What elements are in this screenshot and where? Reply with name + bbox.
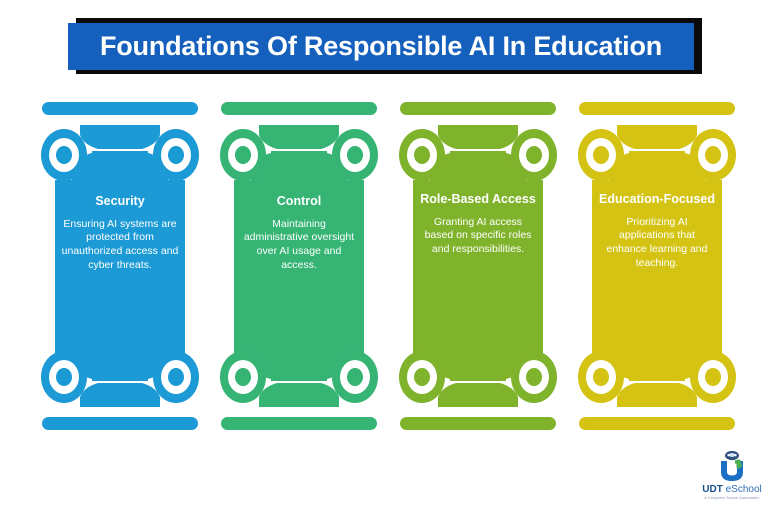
column-capital-top-icon: [567, 125, 747, 185]
title-banner-bar: Foundations Of Responsible AI In Educati…: [68, 23, 694, 70]
pillar-card: Role-Based Access Granting AI access bas…: [413, 180, 543, 353]
pillar-title: Security: [95, 194, 144, 210]
infographic-canvas: Foundations Of Responsible AI In Educati…: [0, 0, 770, 513]
column-capital-bottom-icon: [388, 347, 568, 407]
udt-eschool-mark-icon: [697, 450, 767, 484]
column-capital-bottom-icon: [30, 347, 210, 407]
pillar-column-security: Security Ensuring AI systems are protect…: [30, 96, 210, 436]
column-capital-top-icon: [30, 125, 210, 185]
brand-wordmark: UDT eSchool: [697, 485, 767, 495]
brand-tagline: A Complete School Automation: [697, 497, 767, 501]
pillar-column-role-based-access: Role-Based Access Granting AI access bas…: [388, 96, 568, 436]
title-banner: Foundations Of Responsible AI In Educati…: [68, 18, 702, 76]
pillar-columns: Security Ensuring AI systems are protect…: [0, 96, 770, 436]
column-bottom-bar: [400, 417, 556, 430]
brand-name-rest: eSchool: [723, 484, 762, 495]
pillar-description: Maintaining administrative oversight ove…: [240, 218, 358, 273]
column-bottom-bar: [579, 417, 735, 430]
column-top-bar: [579, 102, 735, 115]
pillar-card: Education-Focused Prioritizing AI applic…: [592, 180, 722, 353]
column-top-bar: [400, 102, 556, 115]
pillar-column-control: Control Maintaining administrative overs…: [209, 96, 389, 436]
pillar-title: Education-Focused: [599, 192, 715, 208]
column-bottom-bar: [221, 417, 377, 430]
pillar-column-education-focused: Education-Focused Prioritizing AI applic…: [567, 96, 747, 436]
column-capital-bottom-icon: [567, 347, 747, 407]
pillar-description: Granting AI access based on specific rol…: [419, 216, 537, 258]
column-capital-top-icon: [388, 125, 568, 185]
column-capital-bottom-icon: [209, 347, 389, 407]
pillar-description: Ensuring AI systems are protected from u…: [61, 218, 179, 273]
brand-logo: UDT eSchool A Complete School Automation: [697, 450, 767, 508]
pillar-description: Prioritizing AI applications that enhanc…: [598, 216, 716, 271]
column-top-bar: [221, 102, 377, 115]
pillar-card: Security Ensuring AI systems are protect…: [55, 180, 185, 353]
pillar-card: Control Maintaining administrative overs…: [234, 180, 364, 353]
column-top-bar: [42, 102, 198, 115]
pillar-title: Control: [277, 194, 321, 210]
column-capital-top-icon: [209, 125, 389, 185]
column-bottom-bar: [42, 417, 198, 430]
page-title: Foundations Of Responsible AI In Educati…: [100, 33, 662, 60]
pillar-title: Role-Based Access: [420, 192, 536, 208]
brand-name-bold: UDT: [702, 484, 723, 495]
